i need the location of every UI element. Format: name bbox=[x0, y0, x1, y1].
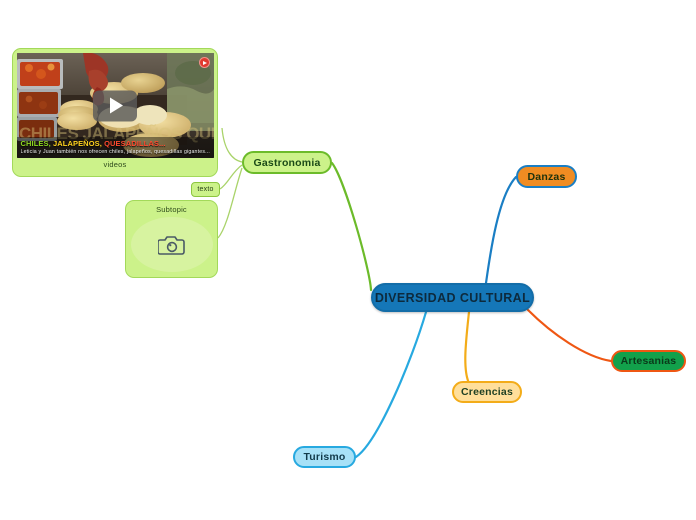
image-placeholder[interactable] bbox=[131, 217, 213, 272]
video-overlay-subtitle: Leticia y Juan también nos ofrecen chile… bbox=[21, 148, 210, 156]
overlay-word-1: CHILES, bbox=[21, 139, 51, 148]
branch-label-creencias: Creencias bbox=[461, 386, 513, 398]
mindmap-canvas: DIVERSIDAD CULTURAL Gastronomia Danzas A… bbox=[0, 0, 696, 520]
branch-node-artesanias[interactable]: Artesanias bbox=[611, 350, 686, 372]
play-icon[interactable] bbox=[93, 90, 137, 121]
edge-artesanias bbox=[528, 310, 611, 361]
video-overlay-title: CHILES, JALAPEÑOS, QUESADILLAS... bbox=[21, 139, 210, 148]
subnode-texto-label: texto bbox=[197, 186, 213, 193]
subnode-subtopic-label: Subtopic bbox=[156, 204, 187, 216]
overlay-word-3: QUESADILLAS... bbox=[104, 139, 165, 148]
edge-gastronomia-texto bbox=[220, 165, 242, 189]
branch-label-danzas: Danzas bbox=[528, 171, 566, 183]
overlay-word-2: JALAPEÑOS, bbox=[53, 139, 102, 148]
edge-danzas bbox=[486, 177, 516, 283]
video-overlay-text: CHILES, JALAPEÑOS, QUESADILLAS... Letici… bbox=[17, 128, 214, 158]
branch-node-danzas[interactable]: Danzas bbox=[516, 165, 577, 188]
branch-label-turismo: Turismo bbox=[303, 451, 345, 463]
video-thumbnail[interactable]: CHILES JALAPEÑOS QUESADILLAS CHILES, JAL… bbox=[17, 53, 214, 158]
branch-node-gastronomia[interactable]: Gastronomia bbox=[242, 151, 332, 174]
edge-gastronomia bbox=[332, 163, 371, 290]
branch-label-artesanias: Artesanias bbox=[621, 355, 677, 367]
central-topic-label: DIVERSIDAD CULTURAL bbox=[375, 291, 530, 305]
central-topic-node[interactable]: DIVERSIDAD CULTURAL bbox=[371, 283, 534, 312]
camera-icon bbox=[158, 234, 186, 256]
edge-creencias bbox=[465, 312, 470, 385]
edge-turismo bbox=[356, 312, 426, 457]
branch-node-creencias[interactable]: Creencias bbox=[452, 381, 522, 403]
video-node-caption: videos bbox=[17, 158, 213, 172]
branch-label-gastronomia: Gastronomia bbox=[254, 157, 321, 169]
subnode-subtopic[interactable]: Subtopic bbox=[125, 200, 218, 278]
subnode-texto[interactable]: texto bbox=[191, 182, 220, 197]
branch-node-turismo[interactable]: Turismo bbox=[293, 446, 356, 468]
subnode-video[interactable]: CHILES JALAPEÑOS QUESADILLAS CHILES, JAL… bbox=[12, 48, 218, 177]
edge-gastronomia-subtopic bbox=[218, 168, 242, 238]
edge-gastronomia-video bbox=[222, 128, 242, 162]
youtube-badge-icon bbox=[199, 57, 210, 68]
